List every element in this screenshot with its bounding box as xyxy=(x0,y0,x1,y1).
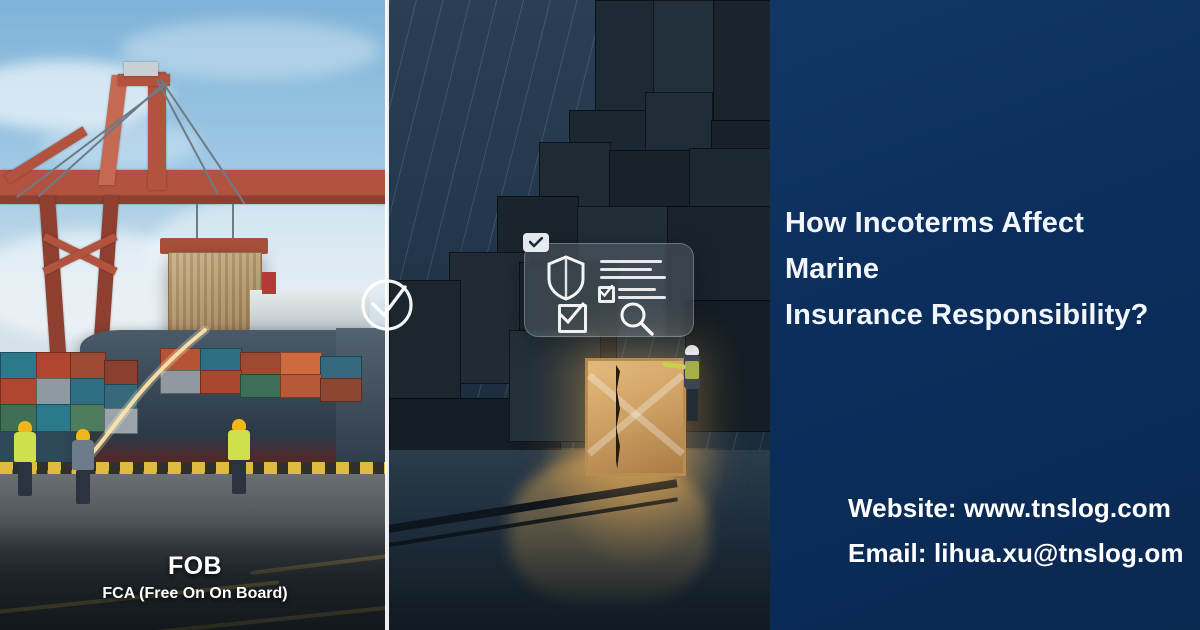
email-line[interactable]: Email: lihua.xu@tnslog.om xyxy=(848,531,1184,576)
document-line xyxy=(600,276,666,279)
website-line[interactable]: Website: www.tnslog.com xyxy=(848,486,1184,531)
damaged-crate xyxy=(585,358,686,476)
large-check-icon xyxy=(556,300,586,330)
left-caption: FOB FCA (Free On On Board) xyxy=(60,552,330,603)
shield-icon xyxy=(546,255,586,301)
headline-line-2: Insurance Responsibility? xyxy=(785,292,1185,338)
banner-image: FOB FCA (Free On On Board) xyxy=(0,0,1200,630)
document-line xyxy=(618,288,656,291)
document-line xyxy=(600,268,652,271)
contact-block: Website: www.tnslog.com Email: lihua.xu@… xyxy=(848,486,1184,576)
document-line xyxy=(618,296,666,299)
check-tag-icon xyxy=(523,233,549,252)
circle-check-icon xyxy=(359,277,415,333)
magnifier-icon xyxy=(618,300,656,338)
fob-expansion: FCA (Free On On Board) xyxy=(60,585,330,603)
page-title: How Incoterms Affect Marine Insurance Re… xyxy=(785,200,1185,338)
headline-line-1: How Incoterms Affect Marine xyxy=(785,200,1185,292)
crack-damage xyxy=(616,365,620,469)
fob-term: FOB xyxy=(60,552,330,581)
checkbox-check-icon xyxy=(598,284,614,300)
document-line xyxy=(600,260,662,263)
ship-funnel xyxy=(262,272,276,294)
left-photo-panel: FOB FCA (Free On On Board) xyxy=(0,0,387,630)
